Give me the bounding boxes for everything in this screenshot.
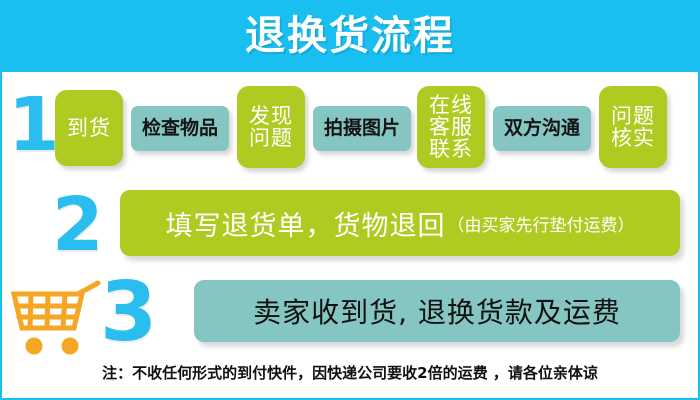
- pill-verify-problem: 问题核实: [599, 86, 667, 168]
- pill-mutual-communication: 双方沟通: [493, 106, 591, 151]
- pill-goods-arrived: 到货: [55, 90, 123, 166]
- pill-contact-support: 在线客服联系: [417, 86, 485, 168]
- footer-note: 注：不收任何形式的到付快件，因快递公司要收2倍的运费 ，请各位亲体谅: [0, 362, 700, 383]
- step-number-2: 2: [52, 188, 104, 262]
- step-number-1: 1: [8, 88, 60, 162]
- pill-take-photos-label: 拍摄图片: [320, 119, 404, 139]
- pill-contact-support-label: 在线客服联系: [417, 94, 485, 160]
- step-2-bar: 填写退货单，货物退回 （由买家先行垫付运费）: [120, 190, 680, 256]
- step-number-3: 3: [100, 272, 157, 354]
- page-title: 退换货流程: [245, 16, 455, 56]
- pill-verify-problem-label: 问题核实: [599, 105, 667, 149]
- pill-mutual-communication-label: 双方沟通: [500, 119, 584, 139]
- pill-goods-arrived-label: 到货: [63, 117, 115, 139]
- step-2-main-text: 填写退货单，货物退回: [166, 204, 446, 243]
- return-exchange-process-infographic: 退换货流程 1 到货 检查物品 发现问题 拍摄图片 在线客服联系 双方沟通 问题…: [0, 0, 700, 400]
- step-3-main-text: 卖家收到货, 退换货款及运费: [253, 291, 621, 331]
- pill-find-problem: 发现问题: [237, 86, 305, 168]
- header-banner: 退换货流程: [0, 0, 700, 72]
- pill-inspect-items: 检查物品: [131, 106, 229, 151]
- pill-inspect-items-label: 检查物品: [138, 119, 222, 139]
- shopping-cart-icon: [8, 278, 104, 358]
- step-2-sub-text: （由买家先行垫付运费）: [448, 211, 635, 236]
- step-3-bar: 卖家收到货, 退换货款及运费: [194, 280, 680, 342]
- pill-take-photos: 拍摄图片: [313, 106, 411, 151]
- pill-find-problem-label: 发现问题: [237, 105, 305, 149]
